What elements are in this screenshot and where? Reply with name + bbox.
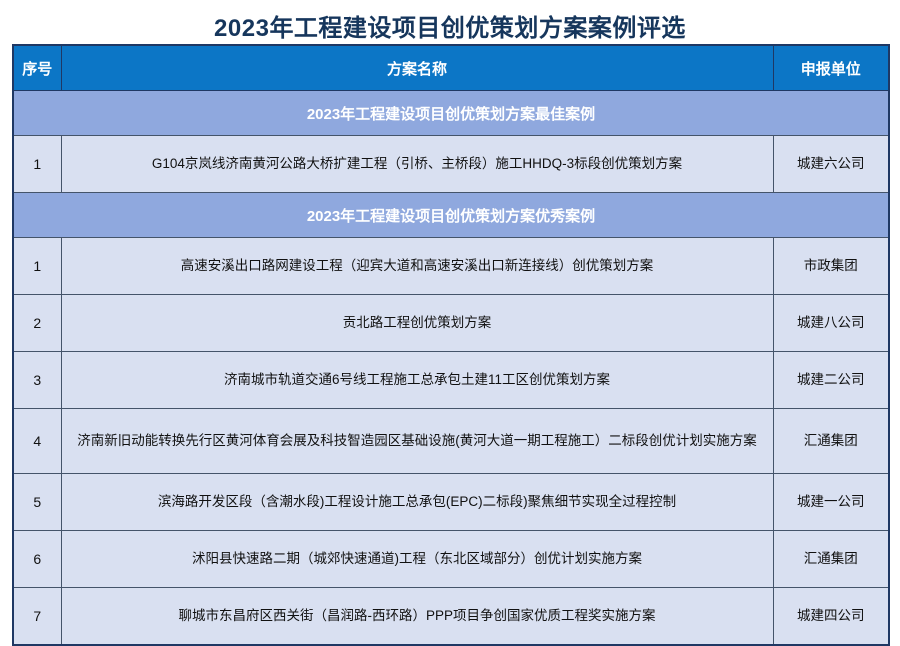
- row-unit: 城建一公司: [773, 474, 889, 531]
- row-unit: 城建六公司: [773, 136, 889, 193]
- row-seq: 6: [13, 531, 61, 588]
- spreadsheet-sheet: 2023年工程建设项目创优策划方案案例评选 序号 方案名称 申报单位 2023年…: [0, 0, 900, 621]
- row-unit: 城建四公司: [773, 588, 889, 646]
- page-title: 2023年工程建设项目创优策划方案案例评选: [214, 8, 686, 43]
- row-unit: 城建二公司: [773, 352, 889, 409]
- table-body: 2023年工程建设项目创优策划方案最佳案例 1 G104京岚线济南黄河公路大桥扩…: [13, 91, 889, 646]
- row-unit: 市政集团: [773, 238, 889, 295]
- table-row[interactable]: 4 济南新旧动能转换先行区黄河体育会展及科技智造园区基础设施(黄河大道一期工程施…: [13, 409, 889, 474]
- row-plan-name: 高速安溪出口路网建设工程（迎宾大道和高速安溪出口新连接线）创优策划方案: [61, 238, 773, 295]
- row-seq: 3: [13, 352, 61, 409]
- evaluation-table: 序号 方案名称 申报单位 2023年工程建设项目创优策划方案最佳案例 1 G10…: [12, 44, 890, 646]
- row-plan-name: 济南新旧动能转换先行区黄河体育会展及科技智造园区基础设施(黄河大道一期工程施工）…: [61, 409, 773, 474]
- column-header-unit: 申报单位: [773, 45, 889, 91]
- document-title-bar: 2023年工程建设项目创优策划方案案例评选: [12, 6, 888, 44]
- row-unit: 汇通集团: [773, 531, 889, 588]
- column-header-name: 方案名称: [61, 45, 773, 91]
- table-row[interactable]: 1 G104京岚线济南黄河公路大桥扩建工程（引桥、主桥段）施工HHDQ-3标段创…: [13, 136, 889, 193]
- row-plan-name: 滨海路开发区段（含潮水段)工程设计施工总承包(EPC)二标段)聚焦细节实现全过程…: [61, 474, 773, 531]
- section-heading-best: 2023年工程建设项目创优策划方案最佳案例: [13, 91, 889, 136]
- table-row[interactable]: 1 高速安溪出口路网建设工程（迎宾大道和高速安溪出口新连接线）创优策划方案 市政…: [13, 238, 889, 295]
- row-plan-name: 聊城市东昌府区西关街（昌润路-西环路）PPP项目争创国家优质工程奖实施方案: [61, 588, 773, 646]
- table-row[interactable]: 7 聊城市东昌府区西关街（昌润路-西环路）PPP项目争创国家优质工程奖实施方案 …: [13, 588, 889, 646]
- section-heading-row: 2023年工程建设项目创优策划方案优秀案例: [13, 193, 889, 238]
- table-row[interactable]: 2 贡北路工程创优策划方案 城建八公司: [13, 295, 889, 352]
- row-plan-name: 贡北路工程创优策划方案: [61, 295, 773, 352]
- row-unit: 城建八公司: [773, 295, 889, 352]
- table-row[interactable]: 6 沭阳县快速路二期（城郊快速通道)工程（东北区域部分）创优计划实施方案 汇通集…: [13, 531, 889, 588]
- row-seq: 2: [13, 295, 61, 352]
- row-plan-name: G104京岚线济南黄河公路大桥扩建工程（引桥、主桥段）施工HHDQ-3标段创优策…: [61, 136, 773, 193]
- table-header: 序号 方案名称 申报单位: [13, 45, 889, 91]
- section-heading-excellent: 2023年工程建设项目创优策划方案优秀案例: [13, 193, 889, 238]
- row-plan-name: 沭阳县快速路二期（城郊快速通道)工程（东北区域部分）创优计划实施方案: [61, 531, 773, 588]
- column-header-seq: 序号: [13, 45, 61, 91]
- row-plan-name: 济南城市轨道交通6号线工程施工总承包土建11工区创优策划方案: [61, 352, 773, 409]
- row-seq: 7: [13, 588, 61, 646]
- row-seq: 4: [13, 409, 61, 474]
- section-heading-row: 2023年工程建设项目创优策划方案最佳案例: [13, 91, 889, 136]
- table-row[interactable]: 5 滨海路开发区段（含潮水段)工程设计施工总承包(EPC)二标段)聚焦细节实现全…: [13, 474, 889, 531]
- row-seq: 5: [13, 474, 61, 531]
- row-unit: 汇通集团: [773, 409, 889, 474]
- table-header-row: 序号 方案名称 申报单位: [13, 45, 889, 91]
- row-seq: 1: [13, 136, 61, 193]
- table-row[interactable]: 3 济南城市轨道交通6号线工程施工总承包土建11工区创优策划方案 城建二公司: [13, 352, 889, 409]
- row-seq: 1: [13, 238, 61, 295]
